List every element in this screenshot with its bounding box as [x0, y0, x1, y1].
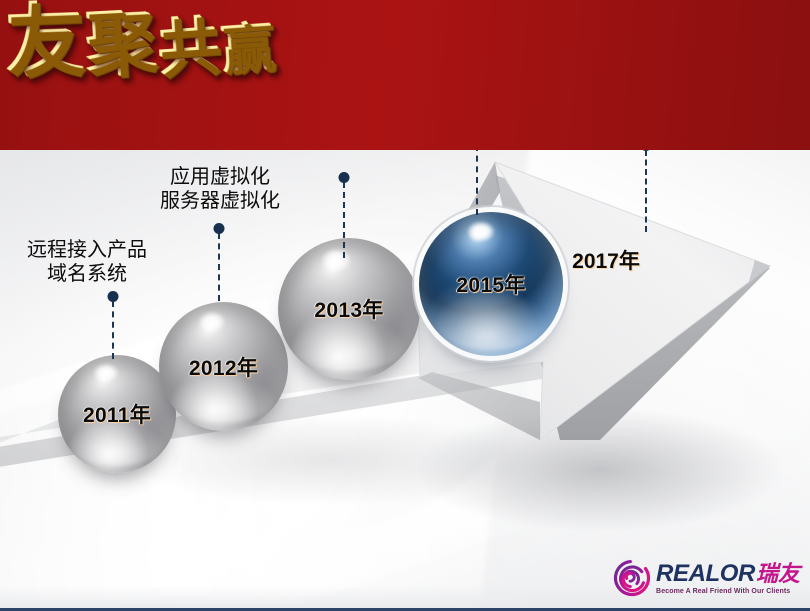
milestone-sphere-2015[interactable]: 2015年 [419, 212, 563, 356]
milestone-sphere-2012[interactable]: 2012年 [159, 302, 288, 431]
realor-tagline: Become A Real Friend With Our Clients [656, 588, 790, 595]
callout-2012-stem [218, 233, 220, 301]
banner-title: 友 聚 共 赢 [6, 3, 274, 81]
realor-name-han: 瑞友 [756, 564, 800, 586]
banner-title-char-3: 共 [156, 15, 222, 81]
slide-canvas: 友 聚 共 赢 2011年 2012年 2013年 2015年 2017年 远程… [0, 0, 810, 611]
banner-title-char-1: 友 [5, 2, 86, 83]
realor-name-latin: REALOR [656, 562, 755, 586]
realor-logo-text: REALOR 瑞友 Become A Real Friend With Our … [656, 562, 800, 595]
realor-logo[interactable]: REALOR 瑞友 Become A Real Friend With Our … [613, 559, 800, 597]
milestone-year-2012: 2012年 [189, 352, 258, 382]
realor-spiral-icon [613, 559, 651, 597]
milestone-sphere-2011[interactable]: 2011年 [58, 355, 176, 473]
callout-2013-stem [343, 182, 345, 258]
milestone-label-2017[interactable]: 2017年 [572, 245, 640, 275]
header-banner: 友 聚 共 赢 [0, 0, 810, 150]
callout-2011-stem [112, 301, 114, 359]
callout-2011-line-1: 远程接入产品 [27, 238, 147, 262]
milestone-sphere-2013[interactable]: 2013年 [278, 238, 420, 380]
milestone-year-2013: 2013年 [314, 294, 383, 324]
callout-2012-line-2: 服务器虚拟化 [160, 189, 280, 213]
milestone-year-2017: 2017年 [572, 250, 640, 273]
callout-2011-line-2: 域名系统 [47, 262, 127, 286]
banner-title-char-4: 赢 [220, 22, 276, 78]
milestone-year-2011: 2011年 [83, 399, 151, 429]
realor-wordmark: REALOR 瑞友 [656, 562, 800, 586]
banner-title-char-2: 聚 [84, 7, 158, 81]
callout-2017-stem [645, 150, 647, 232]
callout-2012-line-1: 应用虚拟化 [170, 165, 270, 189]
milestone-year-2015: 2015年 [456, 269, 525, 299]
callout-2015-stem [476, 145, 478, 215]
